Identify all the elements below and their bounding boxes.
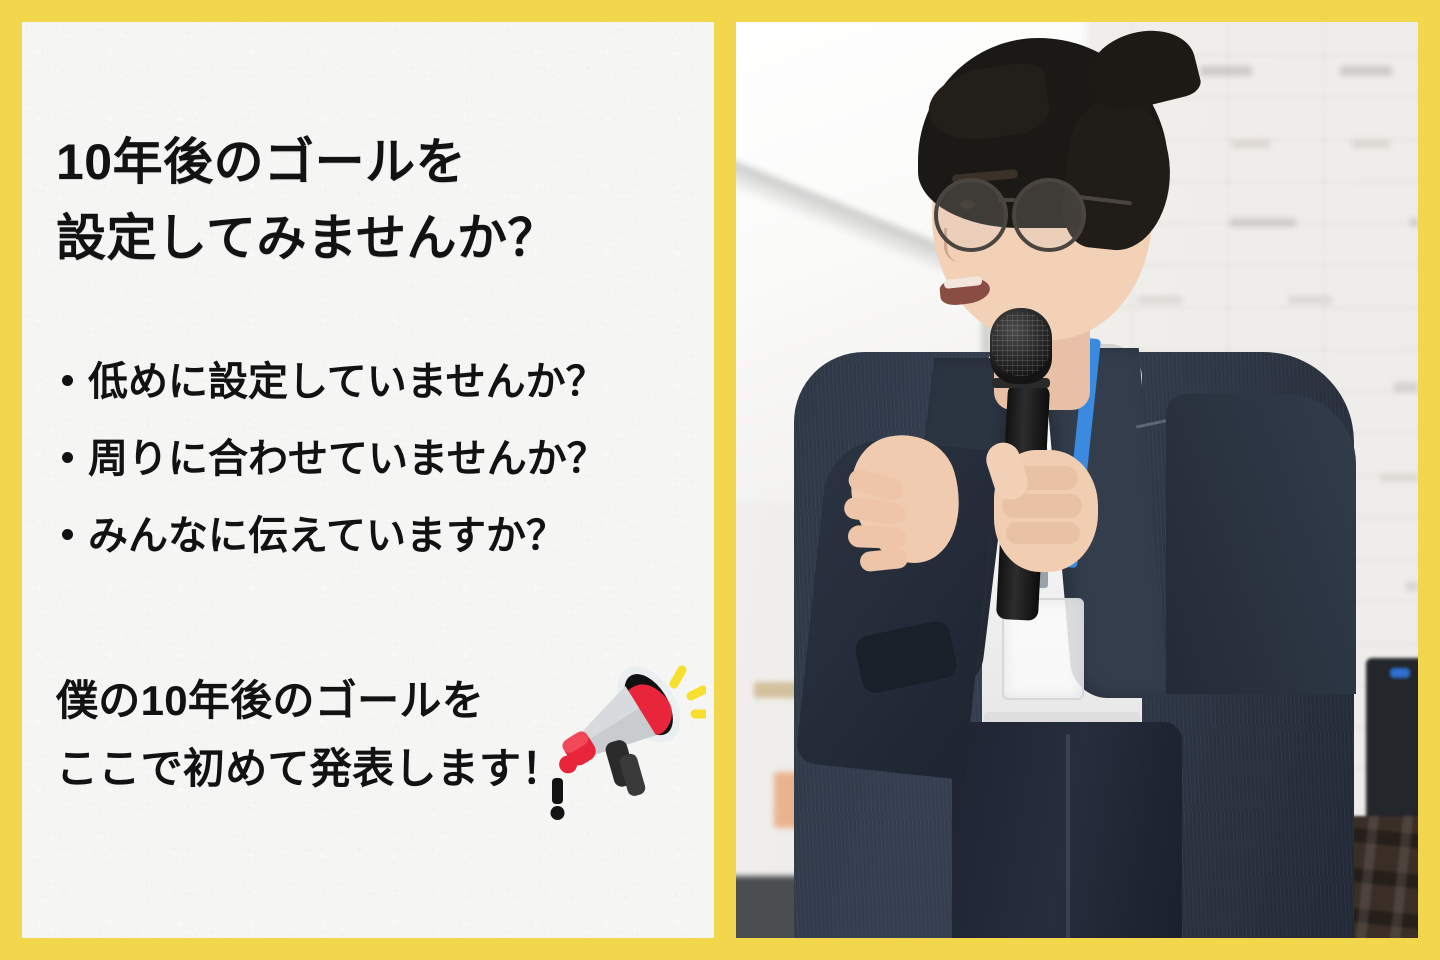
list-item: みんなに伝えていますか？ bbox=[56, 516, 680, 556]
headline-line-2: 設定してみませんか？ bbox=[56, 200, 680, 276]
person-figure bbox=[736, 22, 1418, 938]
megaphone-icon bbox=[546, 660, 706, 830]
slide-root: 10年後のゴールを 設定してみませんか？ 低めに設定していませんか？ 周りに合わ… bbox=[0, 0, 1440, 960]
finger bbox=[1006, 522, 1080, 544]
bullet-text: 低めに設定していませんか？ bbox=[88, 362, 606, 402]
list-item: 周りに合わせていませんか？ bbox=[56, 439, 680, 479]
glasses-bridge bbox=[998, 198, 1016, 202]
hair-tuft bbox=[1081, 22, 1204, 118]
bullet-dot-icon bbox=[62, 452, 73, 463]
bullet-text: みんなに伝えていますか？ bbox=[88, 516, 566, 556]
finger bbox=[848, 525, 907, 549]
page-title: 10年後のゴールを 設定してみませんか？ bbox=[56, 22, 680, 276]
headline-line-1: 10年後のゴールを bbox=[56, 124, 680, 200]
glasses-lens-right bbox=[1012, 178, 1086, 252]
bullet-dot-icon bbox=[62, 375, 73, 386]
exclamation-mark bbox=[551, 778, 565, 820]
trouser-crease bbox=[1066, 734, 1070, 938]
arm-left bbox=[1166, 394, 1356, 694]
bullet-list: 低めに設定していませんか？ 周りに合わせていませんか？ みんなに伝えていますか？ bbox=[56, 276, 680, 556]
sound-lines bbox=[674, 670, 706, 714]
bullet-dot-icon bbox=[62, 529, 73, 540]
text-panel: 10年後のゴールを 設定してみませんか？ 低めに設定していませんか？ 周りに合わ… bbox=[22, 22, 714, 938]
speaker-photo bbox=[736, 22, 1418, 938]
glasses-lens-left bbox=[934, 178, 1008, 252]
list-item: 低めに設定していませんか？ bbox=[56, 362, 680, 402]
microphone-mesh bbox=[992, 312, 1050, 376]
bullet-text: 周りに合わせていませんか？ bbox=[88, 439, 607, 479]
